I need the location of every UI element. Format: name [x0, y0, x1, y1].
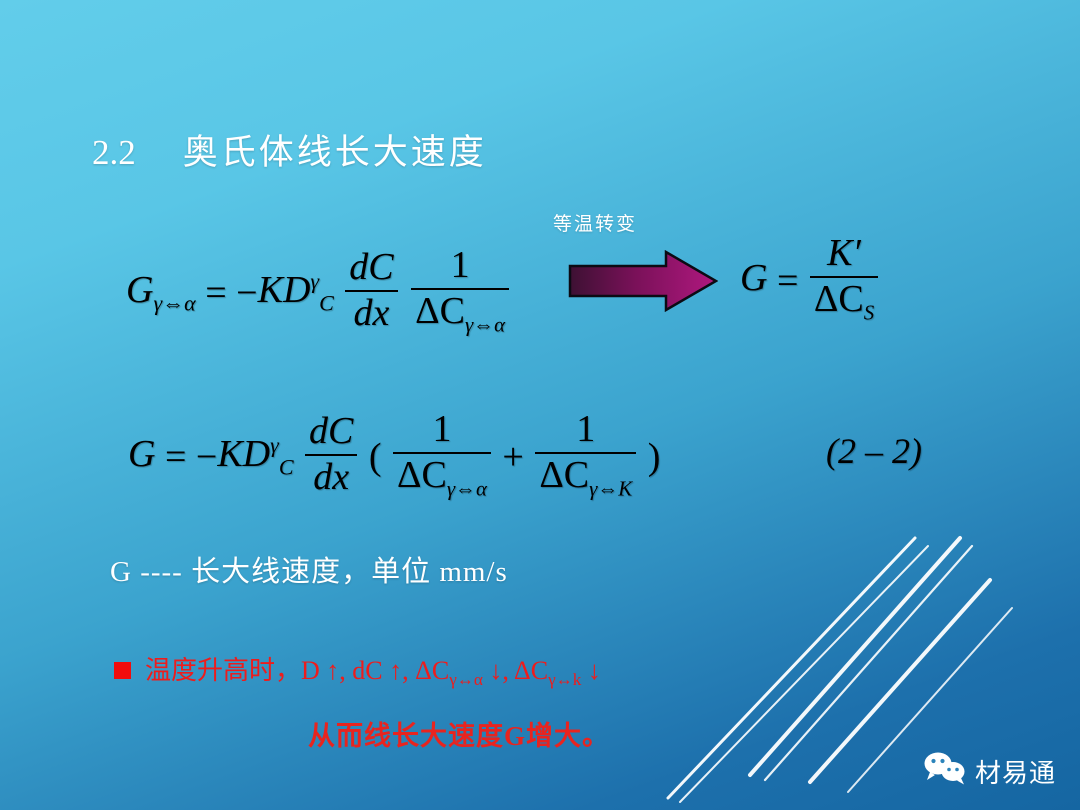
- eq3-fraction-gamma-alpha: 1 ΔCγ⇔α: [393, 410, 491, 500]
- red-conclusion-text: 从而线长大速度G增大。: [308, 714, 610, 753]
- eq1-fraction-dcdx: dC dx: [345, 248, 397, 334]
- eq2-fraction: K′ ΔCS: [810, 234, 878, 324]
- eq3-paren-close: ): [648, 436, 661, 478]
- eq3-coef: KD: [217, 433, 270, 475]
- eq1-lhs: Gγ⇔α: [126, 269, 196, 311]
- eq3-lhs: G: [128, 433, 155, 475]
- definition-note: G ---- 长大线速度，单位 mm/s: [110, 548, 508, 590]
- eq3-equals: =: [165, 436, 186, 478]
- eq1-equals: =: [205, 272, 226, 314]
- slide-canvas: 2.2 奥氏体线长大速度 等温转变 Gγ⇔α = −KDγC dC dx: [0, 0, 1080, 810]
- wechat-icon: [923, 751, 967, 792]
- eq1-coef-sub: C: [319, 291, 334, 316]
- eq1-minus: −: [236, 272, 257, 314]
- eq1-coef-sup: γ: [310, 268, 319, 293]
- eq3-plus: +: [502, 436, 523, 478]
- eq1-fraction-inverse-dc: 1 ΔCγ⇔α: [411, 246, 509, 336]
- eq3-fraction-gamma-k: 1 ΔCγ⇔K: [535, 410, 636, 500]
- equation-2: G = K′ ΔCS: [740, 236, 880, 326]
- eq1-coef: KD: [258, 269, 311, 311]
- red-bullet-line: 温度升高时，D ↑, dC ↑, ΔCγ↔α ↓, ΔCγ↔k ↓: [114, 650, 601, 690]
- eq3-paren-open: (: [369, 436, 382, 478]
- equation-number: (2 – 2): [826, 430, 922, 472]
- eq3-coef-sup: γ: [270, 432, 279, 457]
- eq3-minus: −: [196, 436, 217, 478]
- isothermal-transformation-arrow: [568, 250, 718, 312]
- red-bullet-text: 温度升高时，D ↑, dC ↑, ΔCγ↔α ↓, ΔCγ↔k ↓: [145, 650, 601, 690]
- watermark: 材易通: [923, 751, 1056, 792]
- page-title-text: 奥氏体线长大速度: [183, 133, 487, 172]
- square-bullet-icon: [114, 662, 131, 679]
- eq3-coef-sub: C: [279, 455, 294, 480]
- page-title: 2.2 奥氏体线长大速度: [92, 124, 487, 175]
- equation-1: Gγ⇔α = −KDγC dC dx 1 ΔCγ⇔α: [126, 248, 511, 338]
- arrow-label: 等温转变: [553, 209, 637, 236]
- watermark-text: 材易通: [975, 753, 1056, 790]
- page-title-number: 2.2: [92, 133, 136, 172]
- eq2-lhs: G: [740, 257, 767, 299]
- eq3-fraction-dcdx: dC dx: [305, 412, 357, 498]
- equation-3: G = −KDγC dC dx ( 1 ΔCγ⇔α + 1 ΔCγ⇔K ): [128, 412, 660, 502]
- eq2-equals: =: [777, 260, 798, 302]
